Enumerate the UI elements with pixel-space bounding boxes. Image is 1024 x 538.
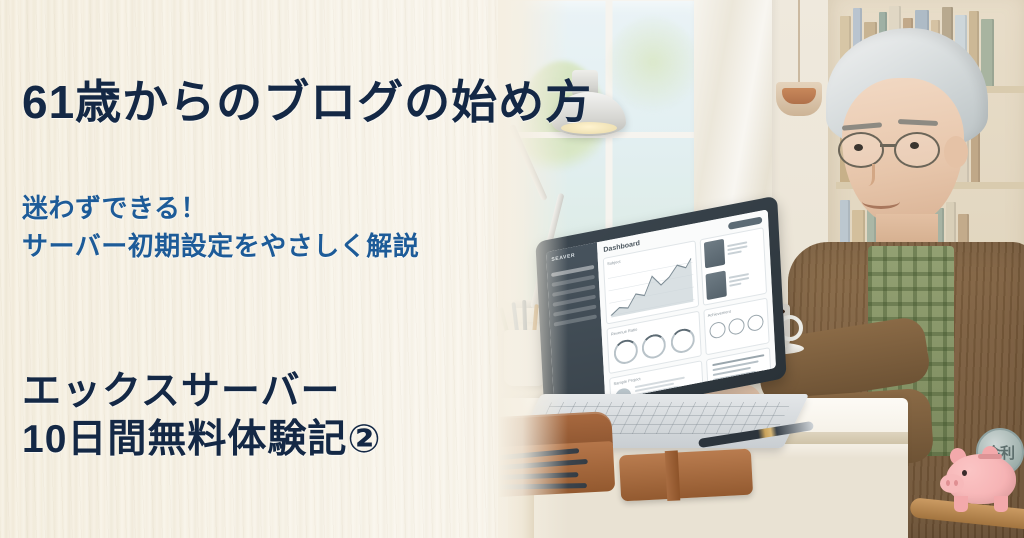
- pig-leg: [994, 496, 1008, 512]
- preview-card: [700, 227, 767, 306]
- subtitle: 迷わずできる！ サーバー初期設定をやさしく解説: [22, 190, 419, 265]
- eyecatch-banner: SEAVER Dashboard Subject: [0, 0, 1024, 538]
- thumbnail: [704, 239, 725, 269]
- footer-text: エックスサーバー 10日間無料体験記②: [22, 368, 381, 463]
- gauge: [642, 332, 667, 360]
- preview-lines: [727, 241, 748, 257]
- subtitle-line-2: サーバー初期設定をやさしく解説: [22, 228, 419, 266]
- pig-coin-slot: [978, 454, 1002, 459]
- subtitle-line-1: 迷わずできる！: [22, 190, 419, 228]
- pig-leg: [954, 496, 968, 512]
- badge-icon: [709, 321, 726, 340]
- eye-right: [910, 142, 919, 149]
- gauge: [671, 327, 696, 355]
- piggy-bank-sticker: 金利: [938, 428, 1022, 516]
- lens-right: [894, 132, 940, 168]
- checklist: [707, 348, 771, 392]
- laptop-screen: SEAVER Dashboard Subject: [546, 209, 776, 410]
- eye-left: [854, 144, 863, 151]
- pig-eye: [962, 470, 967, 476]
- footer-line-1: エックスサーバー: [22, 368, 381, 416]
- preview-lines: [729, 273, 750, 289]
- laptop-lid: SEAVER Dashboard Subject: [535, 195, 786, 424]
- thumbnail: [705, 271, 726, 301]
- outdoor-foliage-2: [607, 17, 699, 117]
- pig-snout: [940, 474, 964, 493]
- chart-card: Subject: [603, 240, 699, 324]
- text-overlay: 61歳からのブログの始め方 迷わずできる！ サーバー初期設定をやさしく解説 エッ…: [0, 0, 560, 538]
- leather-pouch: [619, 449, 753, 502]
- badge-icon: [728, 317, 745, 336]
- footer-line-2: 10日間無料体験記②: [22, 416, 381, 464]
- gauge: [613, 338, 638, 366]
- badge-icon: [747, 313, 764, 332]
- checklist-card: [706, 347, 772, 393]
- badges-card: Achievement: [703, 298, 769, 356]
- mouth: [862, 194, 900, 209]
- dashboard-main: Dashboard Subject: [597, 209, 776, 401]
- glasses-bridge: [880, 144, 896, 147]
- page-title: 61歳からのブログの始め方: [22, 78, 592, 126]
- nose: [858, 164, 875, 186]
